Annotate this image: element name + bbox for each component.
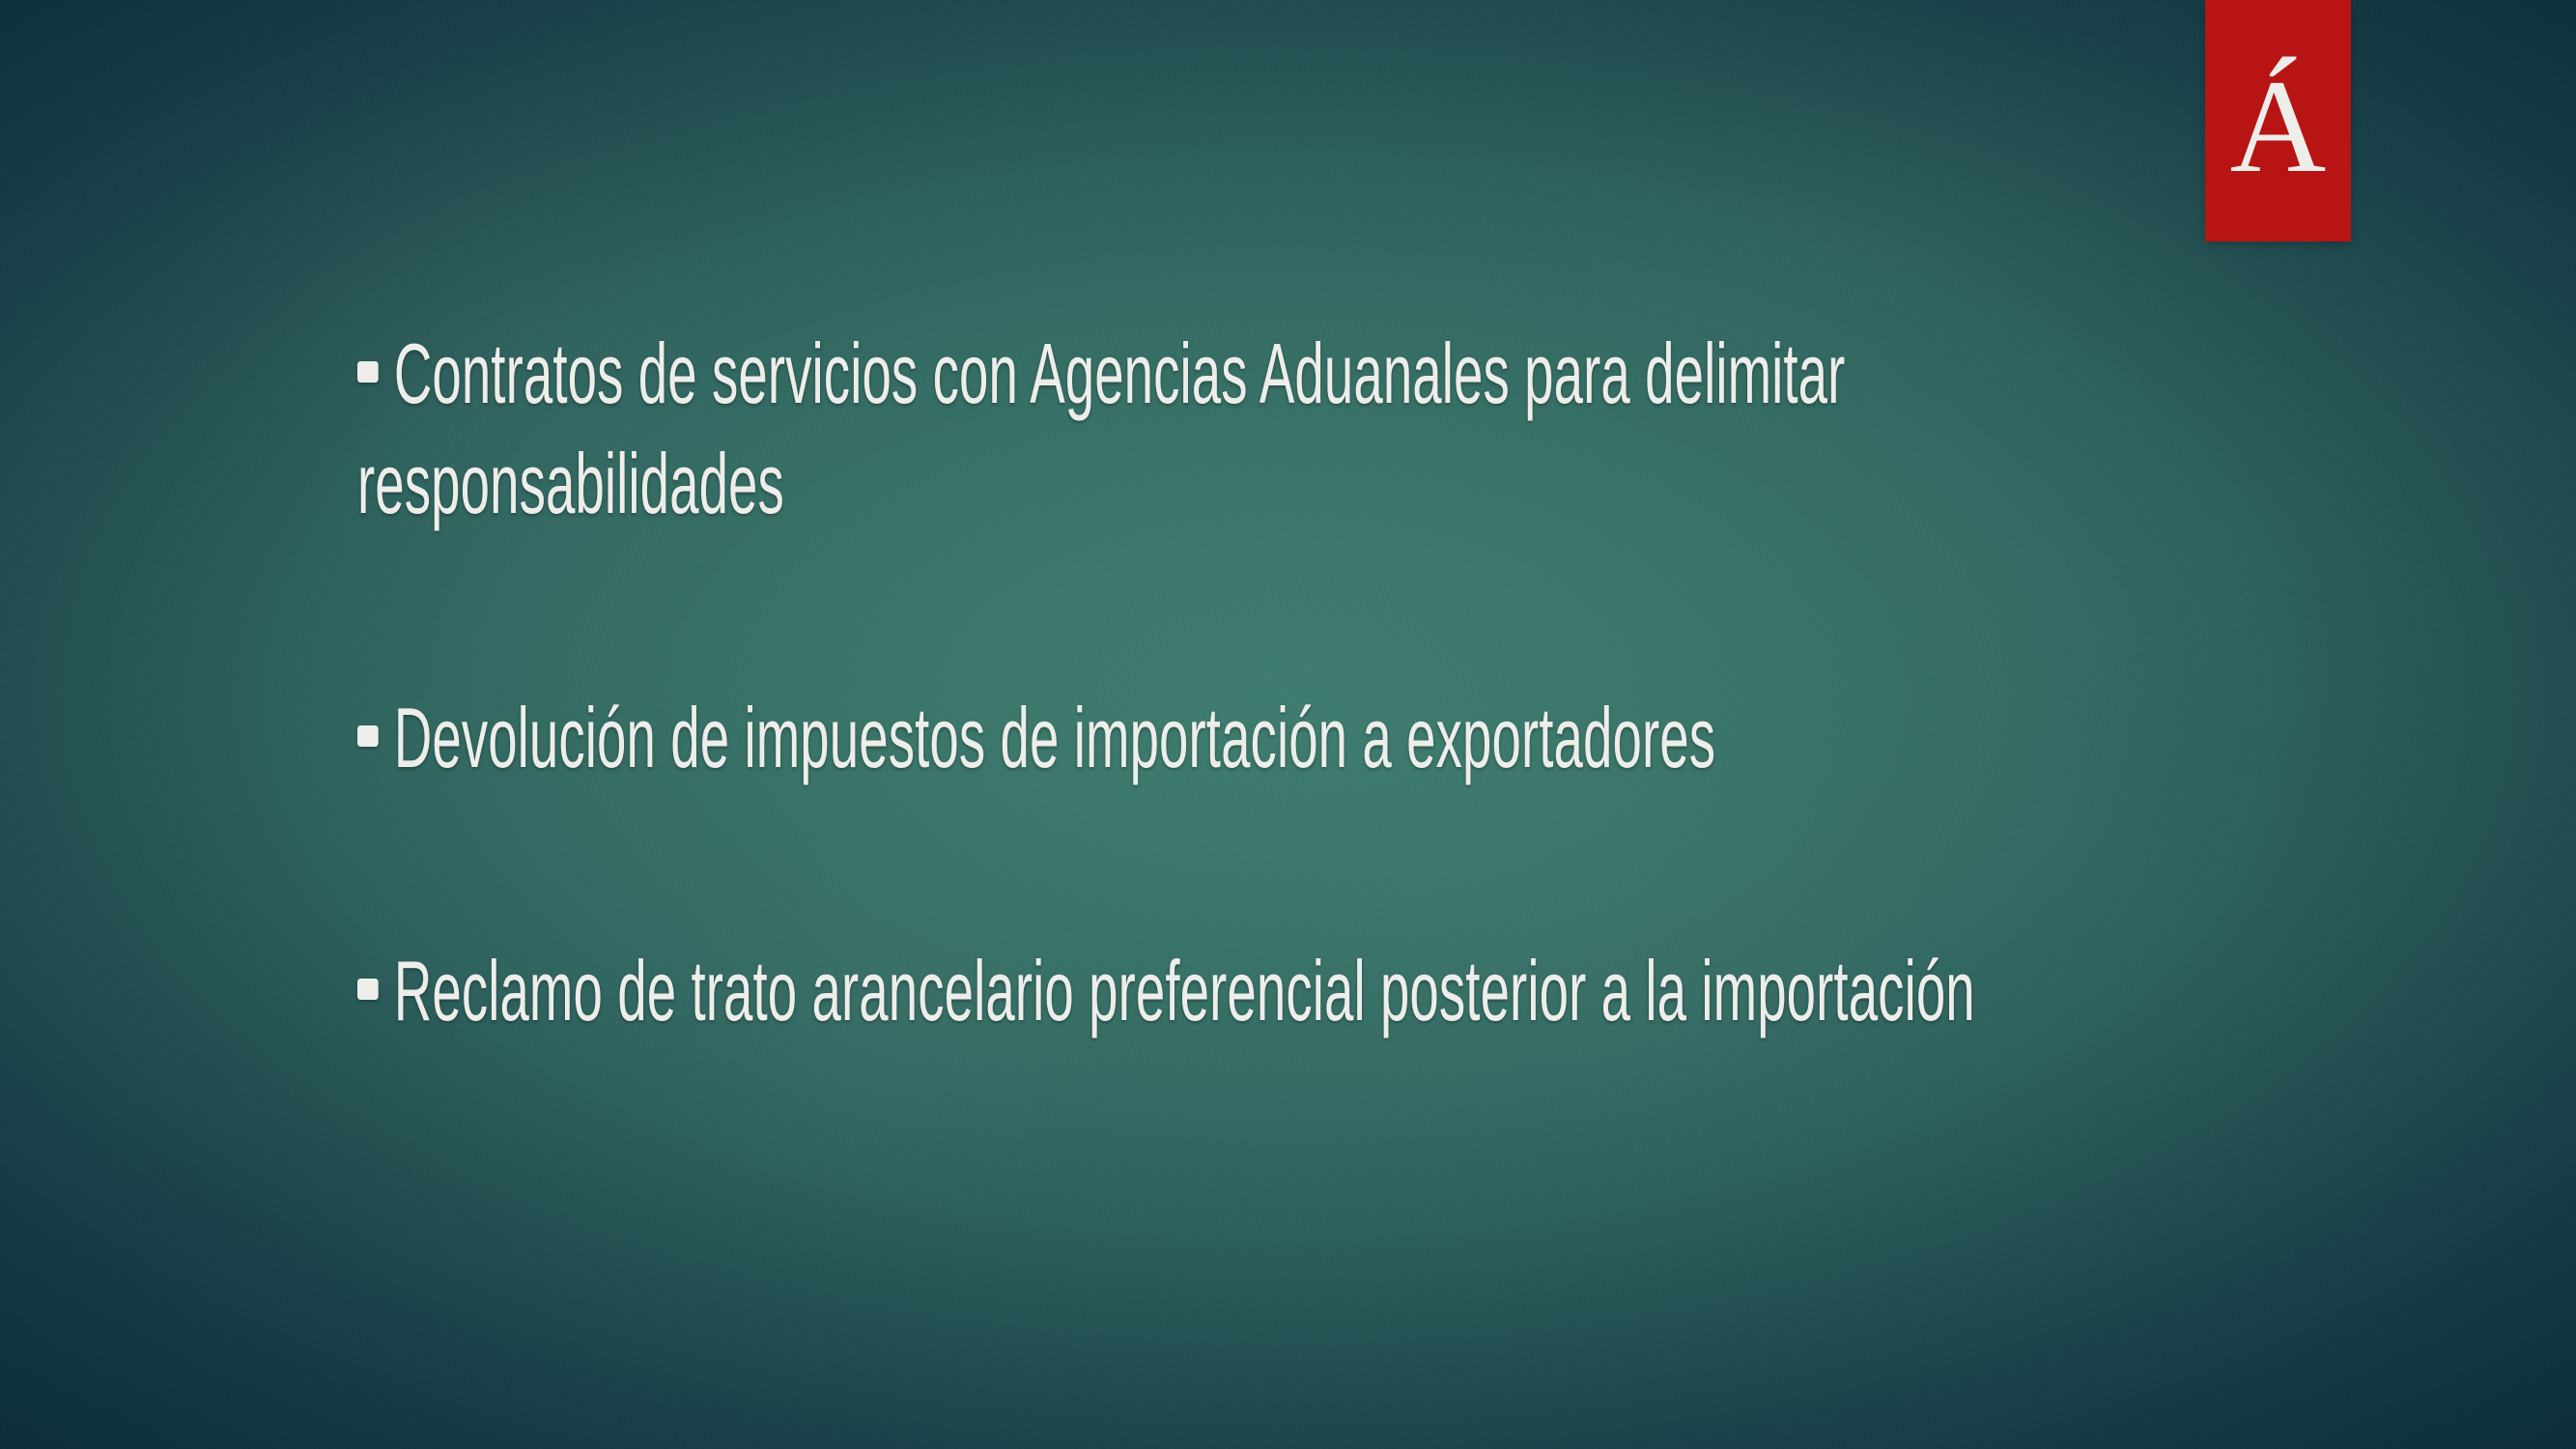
list-item: Devolución de impuestos de importación a… [357,683,2220,793]
logo-letter-a-acute-icon: Á [2230,60,2327,193]
corner-logo: Á [2205,0,2351,241]
bullet-marker-icon [357,725,379,747]
presentation-slide: Á Contratos de servicios con Agencias Ad… [0,0,2576,1449]
list-item-text: Devolución de impuestos de importación a… [394,690,1715,785]
bullet-spacer [357,540,2222,683]
bullet-marker-icon [357,361,379,383]
slide-body-content: Contratos de servicios con Agencias Adua… [357,319,2222,1047]
bullet-spacer [357,793,2222,936]
list-item: Reclamo de trato arancelario preferencia… [357,936,2220,1046]
list-item-text: Contratos de servicios con Agencias Adua… [357,326,1845,531]
list-item-text: Reclamo de trato arancelario preferencia… [394,943,1975,1038]
bullet-marker-icon [357,979,379,1000]
list-item: Contratos de servicios con Agencias Adua… [357,319,2220,540]
